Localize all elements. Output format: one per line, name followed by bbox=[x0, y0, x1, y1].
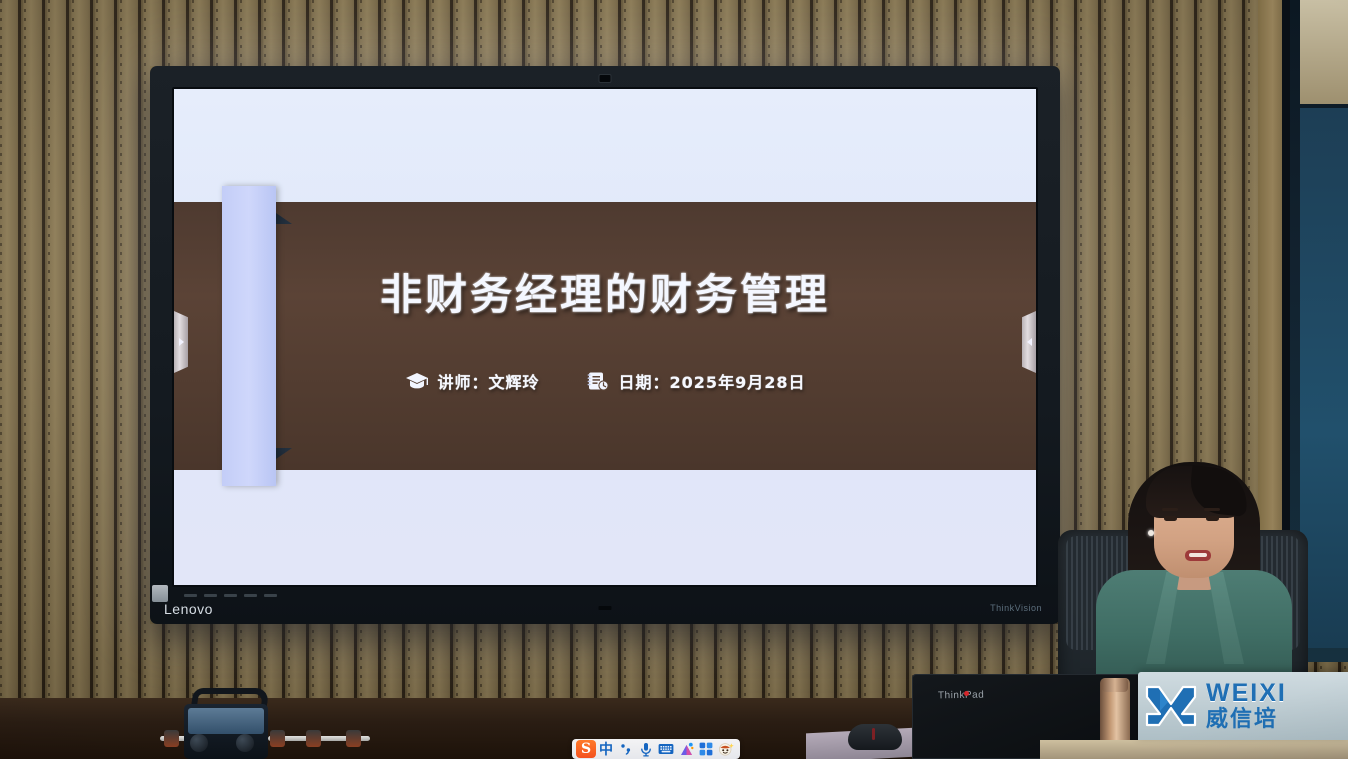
display-bottom-bezel: Lenovo ThinkVision bbox=[150, 587, 1060, 624]
banner-english: WEIXI bbox=[1206, 681, 1287, 706]
thinkpad-logo-dot bbox=[964, 691, 969, 696]
drone-icon bbox=[160, 678, 370, 759]
drone-motor-4 bbox=[346, 730, 361, 747]
panel-expand-right-icon[interactable] bbox=[174, 311, 188, 373]
instructor-label: 讲师：文辉玲 bbox=[438, 369, 540, 393]
microphone-icon bbox=[639, 742, 653, 757]
panel-expand-left-icon[interactable] bbox=[1022, 311, 1036, 373]
display-screen[interactable]: 非财务经理的财务管理 讲师：文辉玲 bbox=[174, 89, 1036, 585]
emoji-face-icon bbox=[718, 742, 734, 756]
weixin-w-mark-icon bbox=[1144, 683, 1198, 729]
grid-menu-icon bbox=[699, 742, 713, 756]
date-meta: 日期：2025年9月28日 bbox=[586, 369, 806, 393]
punctuation-mode-button[interactable] bbox=[616, 740, 636, 758]
display-brand-left: Lenovo bbox=[164, 601, 213, 617]
interactive-display[interactable]: 非财务经理的财务管理 讲师：文辉玲 bbox=[150, 66, 1060, 624]
navy-panel-upper-section bbox=[1300, 0, 1348, 104]
mouse-scroll-wheel bbox=[872, 728, 875, 740]
punctuation-icon bbox=[619, 742, 633, 756]
language-mode-button[interactable]: 中 bbox=[596, 740, 616, 758]
eye-left bbox=[1164, 516, 1177, 521]
mouth bbox=[1185, 550, 1211, 561]
slide-meta-row: 讲师：文辉玲 bbox=[174, 369, 1036, 393]
app-grid-button[interactable] bbox=[696, 740, 716, 758]
sogou-logo-button[interactable]: S bbox=[576, 740, 596, 758]
eye-right bbox=[1206, 516, 1219, 521]
presenter bbox=[1090, 452, 1295, 682]
webcam-icon bbox=[599, 74, 612, 83]
lecture-scene: 非财务经理的财务管理 讲师：文辉玲 bbox=[0, 0, 1348, 759]
thinkpad-logo: ThinkPad bbox=[938, 690, 984, 702]
bezel-vent-slots bbox=[184, 594, 277, 597]
eyebrow-right bbox=[1204, 508, 1220, 511]
slide-brown-band bbox=[174, 202, 1036, 470]
date-label: 日期：2025年9月28日 bbox=[619, 369, 806, 393]
drone-motor-3 bbox=[306, 730, 321, 747]
calendar-clock-icon bbox=[586, 371, 610, 391]
ir-receiver-icon bbox=[599, 606, 612, 610]
mouse-icon[interactable] bbox=[848, 724, 902, 750]
drone-motor-1 bbox=[164, 730, 179, 747]
right-tab-arrow-icon bbox=[1027, 338, 1032, 346]
instructor-meta: 讲师：文辉玲 bbox=[405, 369, 540, 393]
chinese-mode-icon: 中 bbox=[599, 739, 613, 759]
rc-stick-right bbox=[236, 734, 254, 752]
banner-chinese: 威信培 bbox=[1206, 709, 1287, 731]
keyboard-icon bbox=[658, 743, 674, 755]
banner-text-block: WEIXI 威信培 bbox=[1206, 681, 1287, 731]
lenovo-logo-badge bbox=[152, 585, 168, 602]
drone-motor-2 bbox=[270, 730, 285, 747]
presentation-slide[interactable]: 非财务经理的财务管理 讲师：文辉玲 bbox=[174, 89, 1036, 585]
screen-bezel: 非财务经理的财务管理 讲师：文辉玲 bbox=[172, 87, 1038, 587]
sogou-ime-toolbar[interactable]: S 中 bbox=[572, 739, 740, 759]
graduation-cap-icon bbox=[405, 371, 429, 391]
eyebrow-left bbox=[1162, 508, 1178, 511]
emoji-expression-button[interactable] bbox=[716, 740, 736, 758]
rc-controller-panel bbox=[188, 708, 264, 734]
banner-shelf bbox=[1040, 740, 1348, 759]
voice-input-button[interactable] bbox=[636, 740, 656, 758]
soft-keyboard-button[interactable] bbox=[656, 740, 676, 758]
slide-vertical-accent-bar bbox=[222, 186, 276, 486]
sogou-s-icon: S bbox=[576, 740, 596, 758]
display-brand-right: ThinkVision bbox=[990, 603, 1042, 613]
bottle-cap bbox=[1102, 678, 1128, 692]
rc-stick-left bbox=[190, 734, 208, 752]
skin-toolbox-button[interactable] bbox=[676, 740, 696, 758]
earring bbox=[1148, 530, 1154, 536]
weixin-training-banner: WEIXI 威信培 bbox=[1138, 672, 1348, 740]
slide-title: 非财务经理的财务管理 bbox=[174, 261, 1036, 322]
paint-brush-icon bbox=[679, 742, 694, 757]
left-tab-arrow-icon bbox=[179, 338, 184, 346]
